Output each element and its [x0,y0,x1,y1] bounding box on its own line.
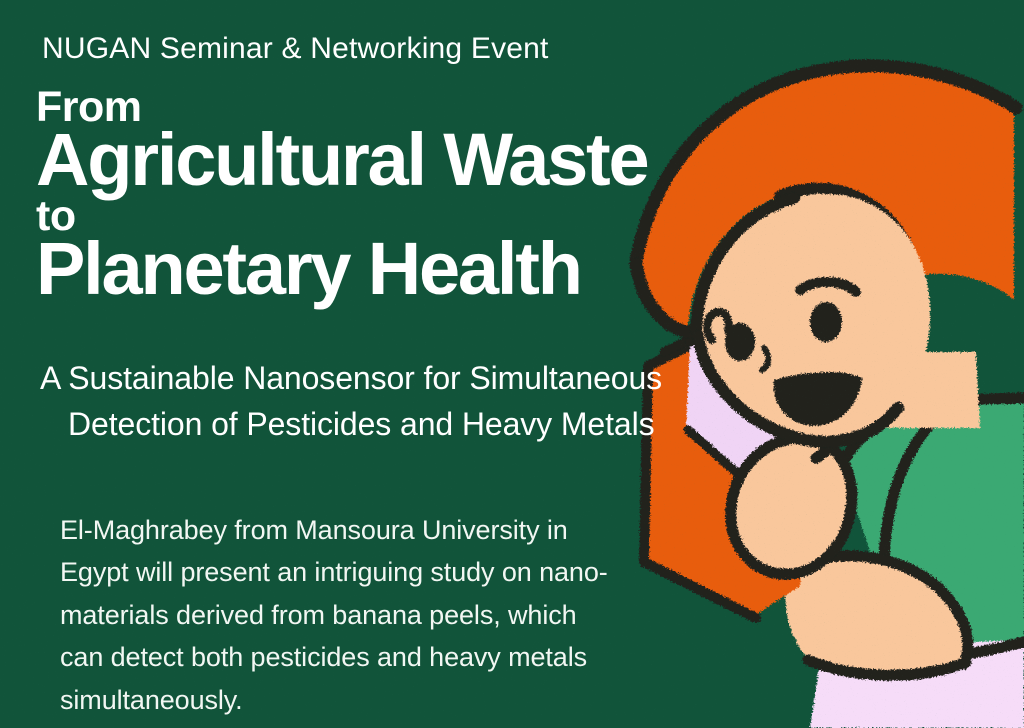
event-kicker: NUGAN Seminar & Networking Event [42,31,549,67]
subtitle-line-1: A Sustainable Nanosensor for Simultaneou… [40,360,662,396]
poster-headline: From Agricultural Waste to Planetary Hea… [36,86,647,303]
headline-line-planetary-health: Planetary Health [36,233,647,306]
subtitle-line-2: Detection of Pesticides and Heavy Metals [40,402,840,448]
event-poster: NUGAN Seminar & Networking Event From Ag… [0,0,1024,728]
headline-line-agricultural-waste: Agricultural Waste [36,124,647,197]
poster-body-text: El-Maghrabey from Mansoura University in… [60,509,620,721]
eye-right [810,302,842,342]
poster-subtitle: A Sustainable Nanosensor for Simultaneou… [40,356,840,448]
